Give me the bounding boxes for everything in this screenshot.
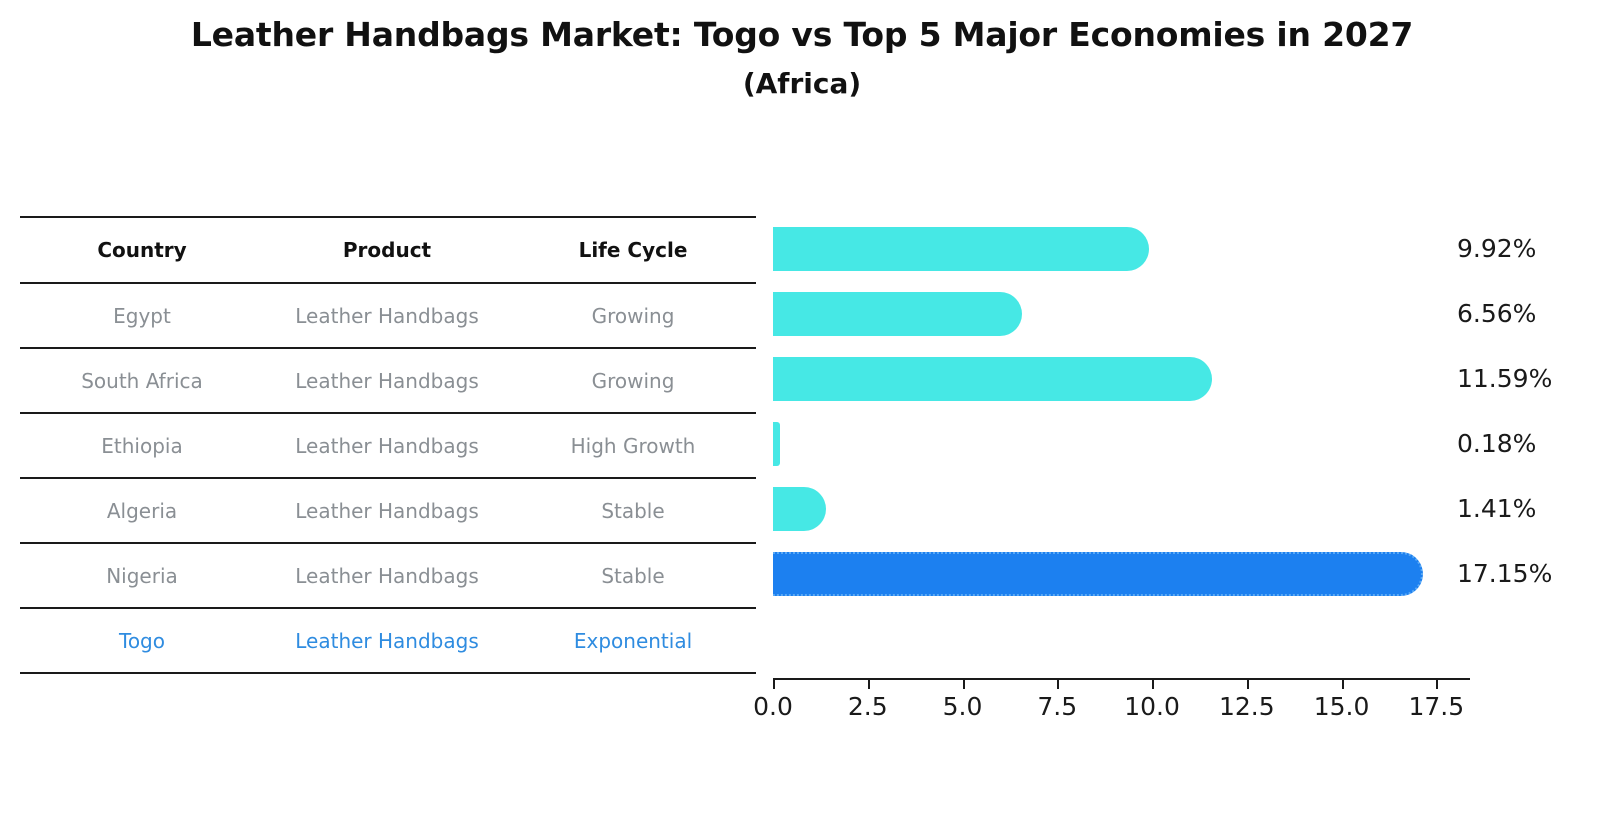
bar-value-label: 0.18%: [1457, 422, 1536, 466]
table-header-row: Country Product Life Cycle: [20, 216, 756, 282]
x-axis-line: [773, 678, 1470, 680]
country-table: Country Product Life Cycle Egypt Leather…: [20, 216, 756, 674]
cell-product: Leather Handbags: [264, 434, 510, 458]
table-bottom-rule: [20, 672, 756, 674]
bar-row: 6.56%: [773, 281, 1450, 346]
x-axis-tick-label: 2.5: [823, 692, 913, 721]
cell-country: Nigeria: [20, 564, 264, 588]
x-axis-tick-label: 17.5: [1391, 692, 1481, 721]
bar-row: 1.41%: [773, 476, 1450, 541]
cell-product: Leather Handbags: [264, 499, 510, 523]
bar[interactable]: [773, 487, 826, 531]
x-axis: 0.02.55.07.510.012.515.017.5: [773, 678, 1473, 738]
bar-value-label: 1.41%: [1457, 487, 1536, 531]
cell-country: South Africa: [20, 369, 264, 393]
x-axis-tick: [868, 680, 870, 689]
bar[interactable]: [773, 422, 780, 466]
bar-row: 11.59%: [773, 346, 1450, 411]
bar-value-label: 17.15%: [1457, 552, 1552, 596]
bar-chart: 9.92%6.56%11.59%0.18%1.41%17.15% 0.02.55…: [773, 216, 1473, 686]
x-axis-tick-label: 0.0: [728, 692, 818, 721]
x-axis-tick: [773, 680, 775, 689]
page-subtitle: (Africa): [0, 62, 1604, 106]
x-axis-tick-label: 12.5: [1202, 692, 1292, 721]
cell-product: Leather Handbags: [264, 564, 510, 588]
plot-area: 9.92%6.56%11.59%0.18%1.41%17.15%: [773, 216, 1450, 678]
cell-life-cycle: Growing: [510, 369, 756, 393]
cell-life-cycle: Growing: [510, 304, 756, 328]
table-row[interactable]: Egypt Leather Handbags Growing: [20, 282, 756, 347]
table-row[interactable]: South Africa Leather Handbags Growing: [20, 347, 756, 412]
cell-life-cycle: Stable: [510, 499, 756, 523]
bar-value-label: 6.56%: [1457, 292, 1536, 336]
x-axis-tick: [1436, 680, 1438, 689]
x-axis-tick-label: 7.5: [1012, 692, 1102, 721]
cell-country: Egypt: [20, 304, 264, 328]
cell-country: Algeria: [20, 499, 264, 523]
bar-value-label: 9.92%: [1457, 227, 1536, 271]
x-axis-tick: [1342, 680, 1344, 689]
x-axis-tick: [1152, 680, 1154, 689]
column-header-product: Product: [264, 238, 510, 262]
cell-country: Ethiopia: [20, 434, 264, 458]
bar-row: 17.15%: [773, 541, 1450, 606]
bar-highlighted[interactable]: [773, 552, 1423, 596]
chart-page: Leather Handbags Market: Togo vs Top 5 M…: [0, 0, 1604, 823]
column-header-country: Country: [20, 238, 264, 262]
cell-country: Togo: [20, 629, 264, 653]
column-header-life-cycle: Life Cycle: [510, 238, 756, 262]
x-axis-tick: [1057, 680, 1059, 689]
x-axis-tick-label: 15.0: [1297, 692, 1387, 721]
x-axis-tick-label: 5.0: [918, 692, 1008, 721]
bar-value-label: 11.59%: [1457, 357, 1552, 401]
x-axis-tick-label: 10.0: [1107, 692, 1197, 721]
cell-life-cycle: High Growth: [510, 434, 756, 458]
bar-row: 9.92%: [773, 216, 1450, 281]
bar[interactable]: [773, 292, 1022, 336]
bar[interactable]: [773, 357, 1212, 401]
table-row-highlighted[interactable]: Togo Leather Handbags Exponential: [20, 607, 756, 672]
x-axis-tick: [963, 680, 965, 689]
bar-row: 0.18%: [773, 411, 1450, 476]
cell-life-cycle: Stable: [510, 564, 756, 588]
chart-title-block: Leather Handbags Market: Togo vs Top 5 M…: [0, 12, 1604, 106]
bar[interactable]: [773, 227, 1149, 271]
cell-product: Leather Handbags: [264, 304, 510, 328]
cell-life-cycle: Exponential: [510, 629, 756, 653]
table-row[interactable]: Nigeria Leather Handbags Stable: [20, 542, 756, 607]
page-title: Leather Handbags Market: Togo vs Top 5 M…: [0, 12, 1604, 58]
table-row[interactable]: Algeria Leather Handbags Stable: [20, 477, 756, 542]
cell-product: Leather Handbags: [264, 629, 510, 653]
table-row[interactable]: Ethiopia Leather Handbags High Growth: [20, 412, 756, 477]
x-axis-tick: [1247, 680, 1249, 689]
cell-product: Leather Handbags: [264, 369, 510, 393]
